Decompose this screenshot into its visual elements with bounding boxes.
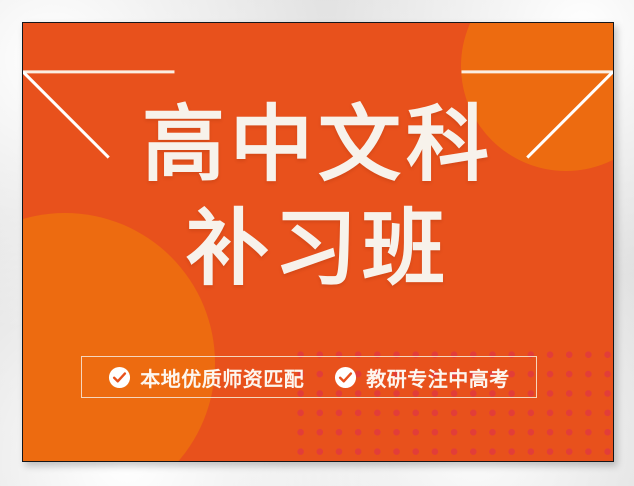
feature-item-2: 教研专注中高考	[334, 363, 510, 392]
page-title-line-1: 高中文科	[23, 97, 613, 193]
page-title-line-2: 补习班	[23, 201, 613, 297]
feature-label-2: 教研专注中高考	[366, 363, 510, 392]
feature-bar: 本地优质师资匹配 教研专注中高考	[81, 356, 537, 398]
feature-label-1: 本地优质师资匹配	[140, 363, 304, 392]
check-circle-icon	[334, 366, 357, 389]
poster-headline: 高中文科 补习班	[23, 97, 613, 297]
poster-card: 高中文科 补习班 本地优质师资匹配 教研专注中高考	[22, 22, 614, 462]
feature-item-1: 本地优质师资匹配	[108, 363, 304, 392]
check-circle-icon	[108, 366, 131, 389]
